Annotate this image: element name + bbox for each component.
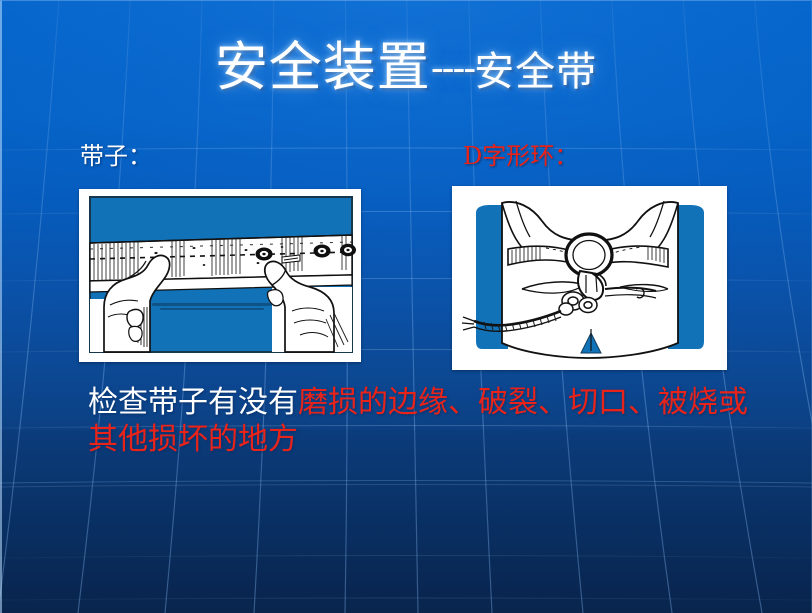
slide-title-container: 安全装置----安全带 [0, 40, 812, 96]
d-ring-illustration [452, 186, 727, 370]
label-strap: 带子： [80, 136, 152, 171]
strap-inspection-illustration [79, 189, 361, 362]
slide-title-main: 安全装置 [215, 37, 431, 98]
body-paragraph: 检查带子有没有磨损的边缘、破裂、切口、被烧或其他损坏的地方 [88, 385, 748, 458]
d-ring-svg [460, 193, 719, 362]
slide-title-tail: 安全带 [474, 49, 597, 95]
slide-title: 安全装置----安全带 [215, 40, 597, 96]
slide-title-dash: ---- [431, 46, 474, 90]
body-text-white: 检查带子有没有 [88, 385, 298, 420]
presentation-slide: 安全装置----安全带 带子： D字形环： [0, 0, 812, 613]
strap-inspection-svg [86, 195, 356, 354]
label-d-ring: D字形环： [463, 136, 578, 171]
